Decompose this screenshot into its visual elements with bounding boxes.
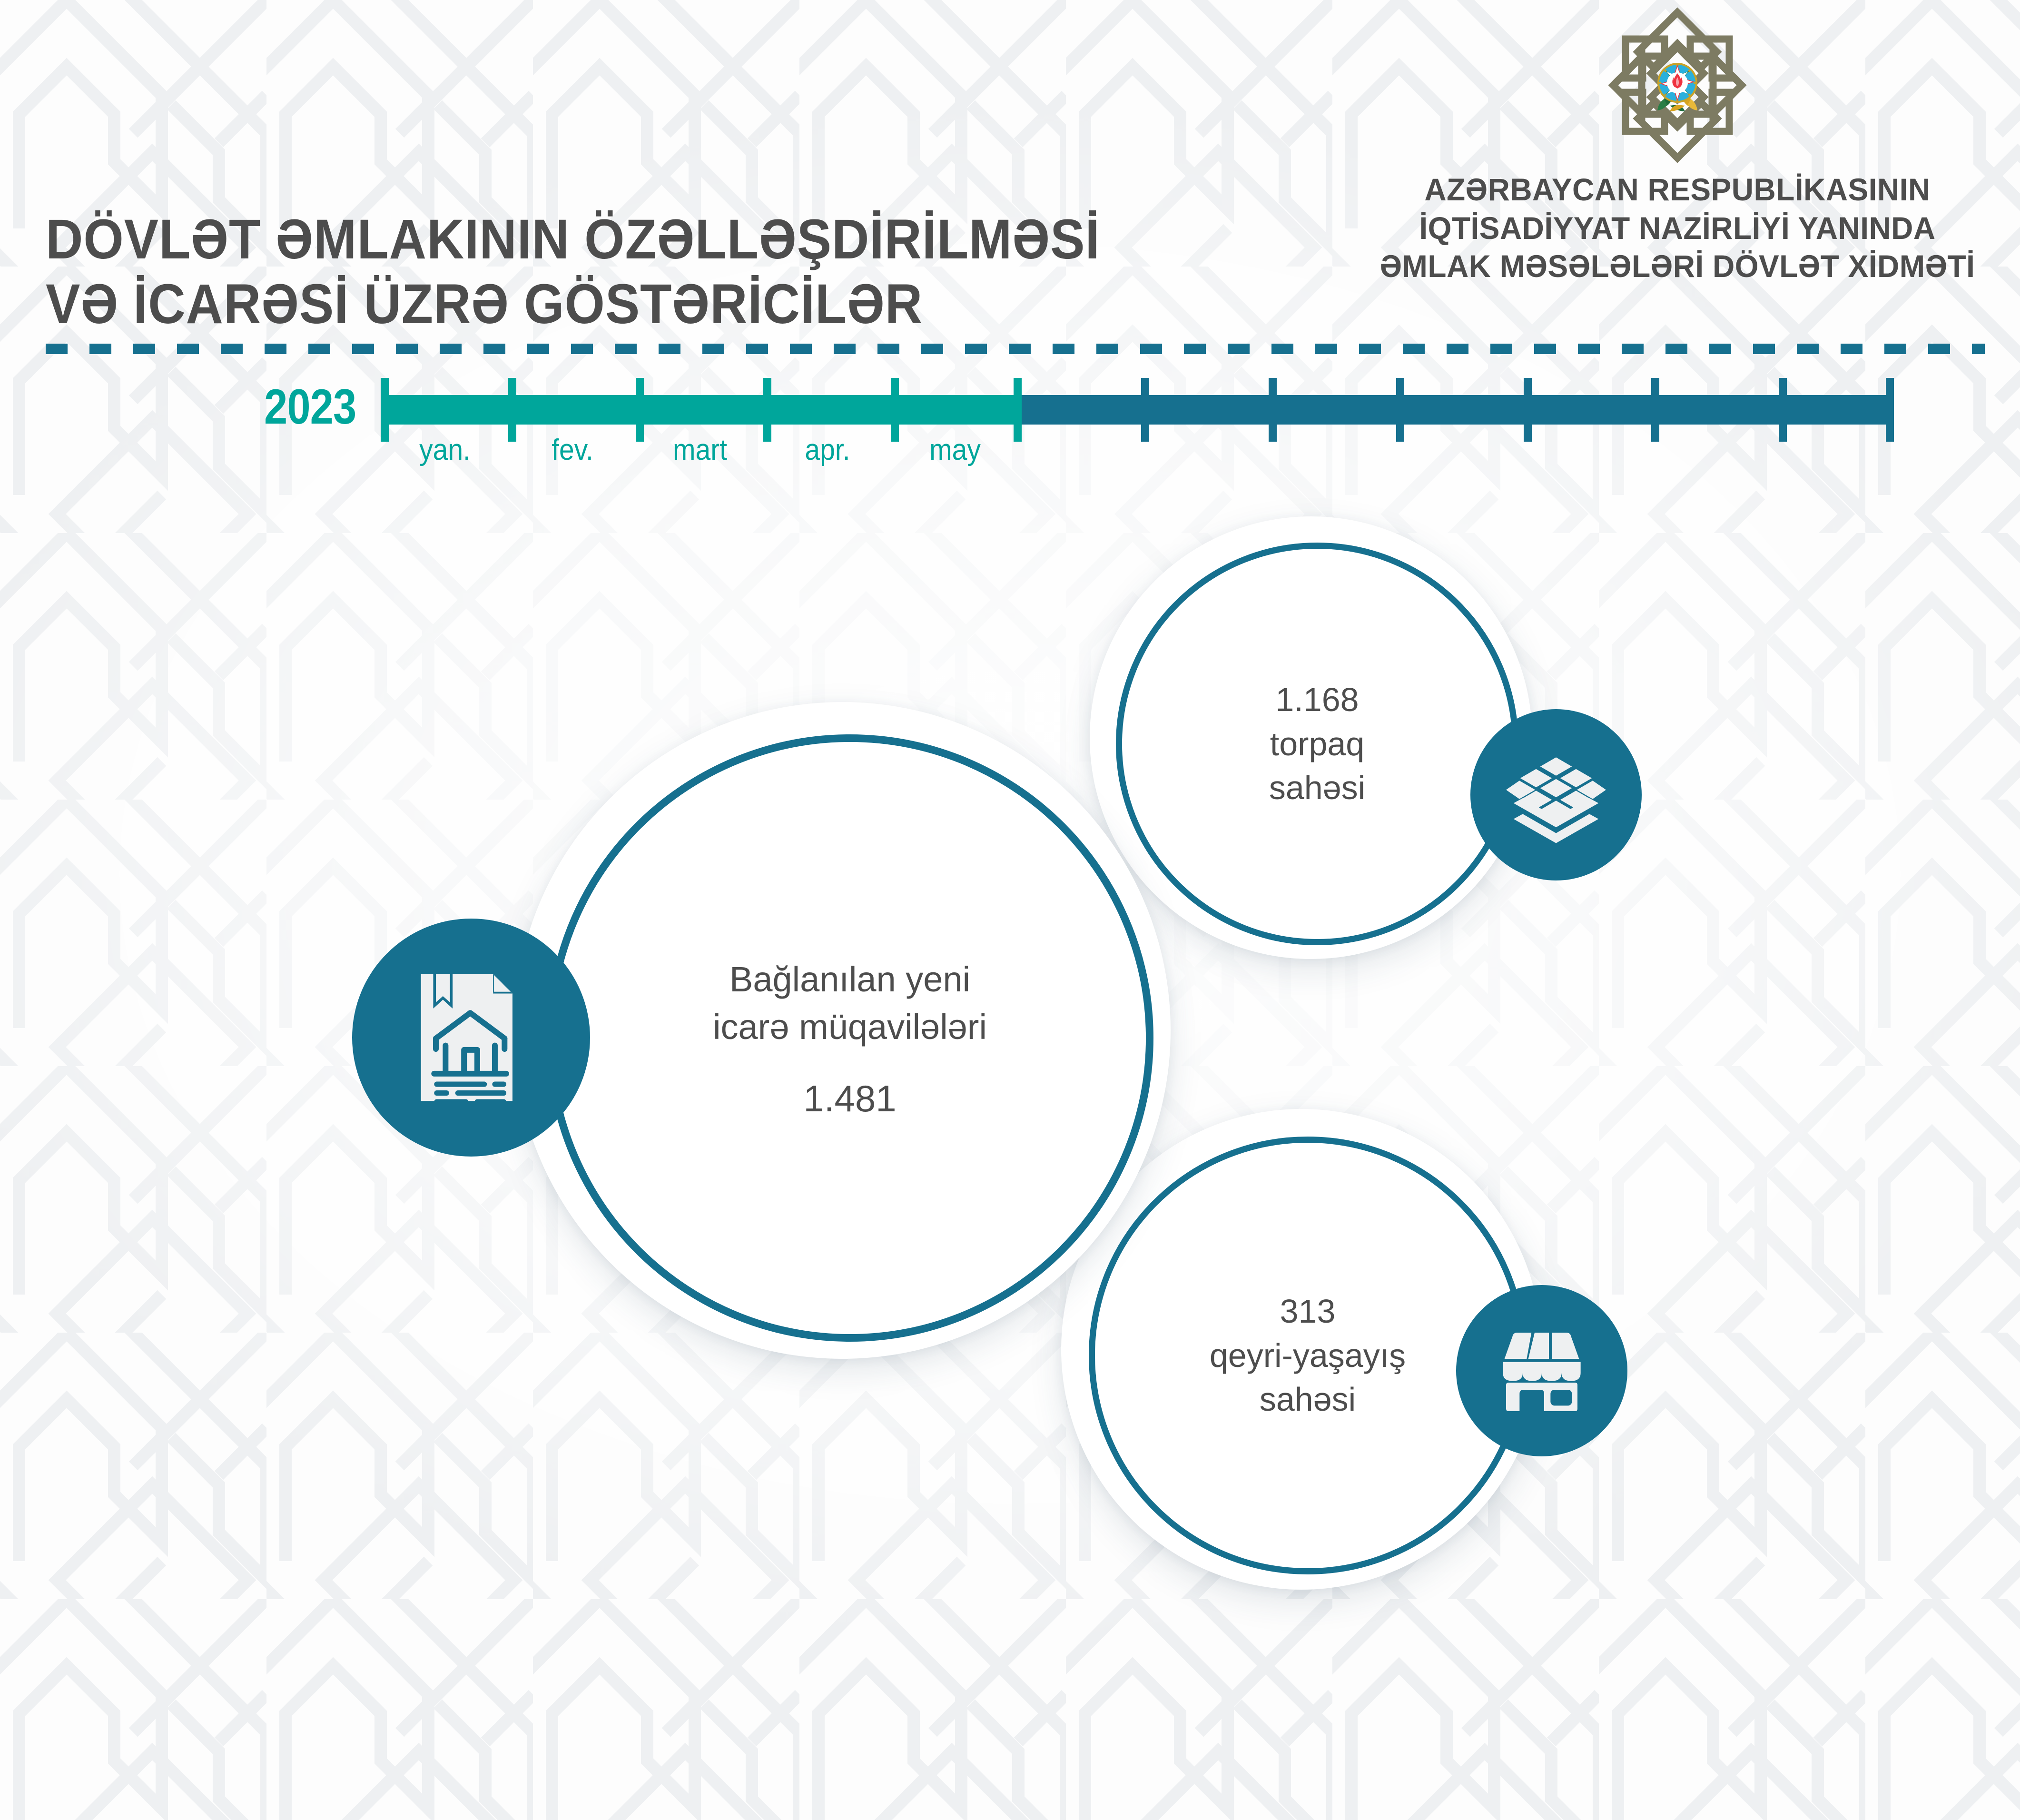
organization-name: AZƏRBAYCAN RESPUBLİKASININ İQTİSADİYYAT … [1378,170,1978,286]
timeline: 2023 yan. fev. mart apr. may [0,371,2020,457]
timeline-month-fev: fev. [526,433,618,467]
storefront-icon[interactable] [1456,1285,1627,1456]
timeline-tick-7 [1141,378,1149,442]
timeline-inactive-bar [1018,395,1894,425]
page-title: DÖVLƏT ƏMLAKININ ÖZƏLLƏŞDİRİLMƏSİ VƏ İCA… [46,208,1100,336]
timeline-month-mart: mart [654,433,746,467]
timeline-active-bar [381,395,1018,425]
timeline-month-apr: apr. [781,433,873,467]
land-bubble[interactable]: 1.168 torpaq sahəsi [1116,543,1518,945]
timeline-tick-6 [1014,378,1022,442]
state-emblem-medallion [1654,58,1701,114]
timeline-month-may: may [909,433,1001,467]
timeline-tick-9 [1396,378,1404,442]
timeline-year: 2023 [264,379,356,435]
timeline-tick-end [1886,378,1894,442]
nonres-bubble-text: 313 qeyri-yaşayış sahəsi [1141,1289,1474,1421]
timeline-tick-4 [763,378,771,442]
timeline-tick-11 [1651,378,1659,442]
main-bubble-value: 1.481 [803,1077,896,1120]
timeline-tick-12 [1779,378,1787,442]
timeline-tick-1 [381,378,389,442]
organization-block: AZƏRBAYCAN RESPUBLİKASININ İQTİSADİYYAT … [1368,7,1987,286]
dashed-divider [46,344,1985,354]
main-bubble[interactable]: Bağlanılan yeni icarə müqavilələri 1.481 [546,734,1153,1342]
azerbaijan-state-emblem-icon [1599,7,1756,164]
timeline-tick-3 [636,378,644,442]
contract-house-document-icon[interactable] [352,919,590,1157]
timeline-tick-10 [1524,378,1532,442]
timeline-month-yan: yan. [399,433,491,467]
main-bubble-label: Bağlanılan yeni icarə müqavilələri [626,956,1074,1050]
timeline-tick-5 [891,378,899,442]
timeline-tick-2 [508,378,516,442]
land-bubble-text: 1.168 torpaq sahəsi [1170,678,1465,810]
timeline-tick-8 [1269,378,1277,442]
land-layers-icon[interactable] [1470,709,1642,880]
